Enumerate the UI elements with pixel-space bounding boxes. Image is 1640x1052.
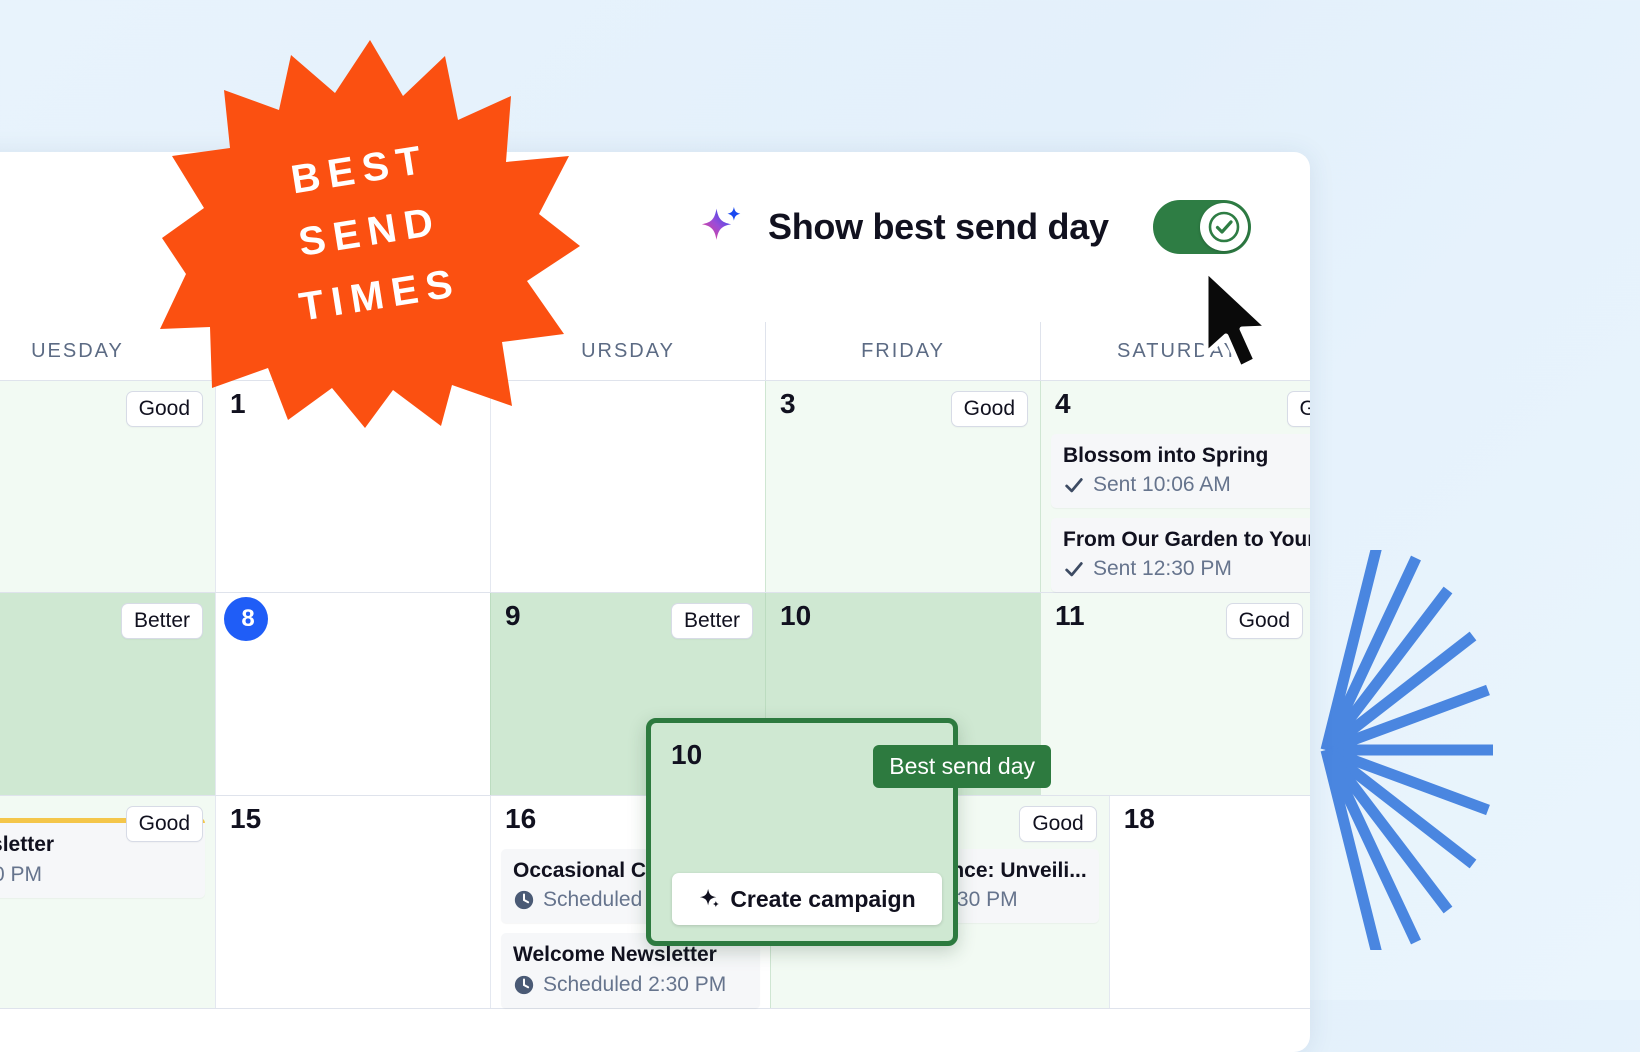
day-of-week-header-row: UESDAYURSDAYFRIDAYSATURDAY [0,322,1310,381]
day-number: 18 [1120,804,1310,835]
sparkle-icon [698,888,720,910]
check-icon [1063,558,1085,580]
send-quality-badge: Good [1019,806,1096,842]
day-number: 10 [776,601,1030,632]
day-of-week-header: UESDAY [0,322,215,380]
switch-knob [1200,203,1248,251]
send-quality-badge: Good [126,391,203,427]
calendar-day-cell[interactable]: Goodewsletter0 PM [0,796,215,1007]
calendar-day-cell[interactable]: Better [0,593,215,795]
best-send-day-toggle-row[interactable]: Show best send day [700,200,1251,254]
today-day-number: 8 [224,597,268,641]
best-send-day-badge: Best send day [873,745,1051,788]
toggle-label: Show best send day [768,206,1109,248]
show-best-send-day-switch[interactable] [1153,200,1251,254]
day-of-week-header: FRIDAY [765,322,1040,380]
event-status: 0 PM [0,863,193,887]
check-icon [1063,474,1085,496]
clock-icon [513,974,535,996]
event-status-text: 0 PM [0,863,42,887]
create-campaign-button[interactable]: Create campaign [672,873,942,925]
event-title: From Our Garden to Your H... [1063,527,1310,553]
send-quality-badge: Good [1287,391,1310,427]
event-title: Welcome Newsletter [513,942,748,968]
event-status-text: Sent 10:06 AM [1093,473,1231,497]
day-of-week-header: SATURDAY [1040,322,1310,380]
event-list: Blossom into SpringSent 10:06 AMFrom Our… [1051,434,1310,593]
calendar-day-cell[interactable]: Good4Blossom into SpringSent 10:06 AMFro… [1040,381,1310,592]
event-status: Sent 10:06 AM [1063,473,1310,497]
day-of-week-header [215,322,490,380]
event-status: Scheduled 2:30 PM [513,973,748,997]
campaign-event-chip[interactable]: Blossom into SpringSent 10:06 AM [1051,434,1310,508]
send-quality-badge: Good [126,806,203,842]
send-quality-badge: Better [121,603,203,639]
event-status: Sent 12:30 PM [1063,557,1310,581]
sparkle-icon [700,205,744,249]
calendar-day-cell[interactable]: 1 [215,381,490,592]
day-of-week-header: URSDAY [490,322,765,380]
calendar-day-cell[interactable]: 15 [215,796,490,1007]
calendar-day-cell[interactable]: Good11 [1040,593,1310,795]
day-number: 1 [226,389,480,420]
card-header: Show best send day [0,152,1310,322]
calendar-day-cell[interactable]: Good [0,381,215,592]
send-quality-badge: Good [951,391,1028,427]
check-icon [1208,211,1240,243]
create-campaign-label: Create campaign [730,886,915,913]
send-quality-badge: Better [671,603,753,639]
event-status-text: Sent 12:30 PM [1093,557,1232,581]
calendar-day-cell[interactable] [490,381,765,592]
campaign-event-chip[interactable]: From Our Garden to Your H...Sent 12:30 P… [1051,518,1310,592]
event-title: Blossom into Spring [1063,443,1310,469]
day-number: 15 [226,804,480,835]
clock-icon [513,889,535,911]
calendar-week-row: Good1Good3Good4Blossom into SpringSent 1… [0,381,1310,593]
event-status-text: Scheduled 2:30 PM [543,973,726,997]
best-send-day-number: 10 [671,739,702,771]
calendar-card: Show best send day UESDAYURSDAYFRIDAYSAT… [0,152,1310,1052]
calendar-day-cell[interactable]: Good3 [765,381,1040,592]
best-send-day-highlight-cell[interactable]: 10 Best send day Create campaign [646,718,958,946]
day-number: 4 [1051,389,1310,420]
decorative-fan-graphic [1318,550,1640,950]
send-quality-badge: Good [1226,603,1303,639]
calendar-day-cell[interactable]: 8 [215,593,490,795]
calendar-day-cell[interactable]: 18 [1109,796,1310,1007]
